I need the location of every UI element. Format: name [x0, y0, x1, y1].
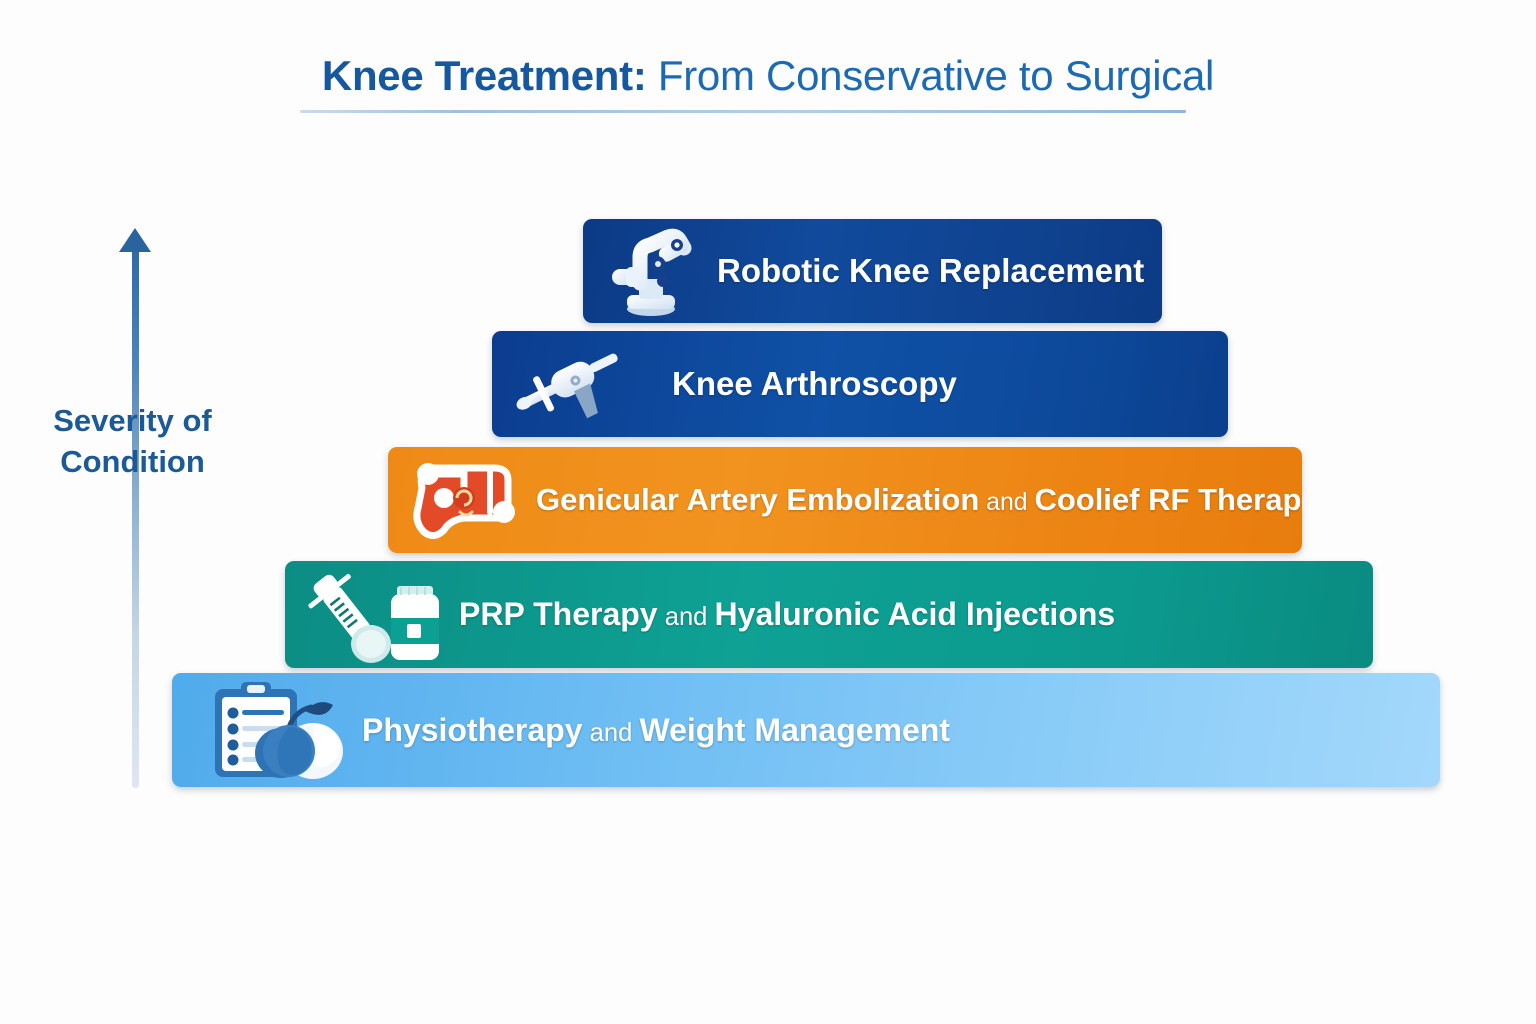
title-emphasis: Knee Treatment:	[322, 52, 647, 99]
tier-knee-arthroscopy[interactable]: Knee Arthroscopy	[492, 331, 1228, 437]
title-text: Knee Treatment: From Conservative to Sur…	[322, 52, 1214, 100]
tier-label-tail: Weight Management	[639, 712, 950, 748]
up-arrow-icon	[119, 228, 151, 252]
tier-label-main: Genicular Artery Embolization	[536, 482, 979, 517]
robotic-arm-icon	[603, 223, 699, 319]
tier-label-main: Robotic Knee Replacement	[717, 252, 1144, 289]
title-subtext: From Conservative to Surgical	[647, 52, 1215, 99]
tier-label-main: PRP Therapy	[459, 596, 658, 632]
severity-axis-label: Severity of Condition	[40, 400, 225, 482]
title-underline-divider	[300, 110, 1186, 113]
tier-label: Robotic Knee Replacement	[717, 252, 1144, 290]
tier-label-tail: Hyaluronic Acid Injections	[715, 596, 1116, 632]
tier-label-main: Knee Arthroscopy	[672, 365, 957, 402]
severity-axis-label-line1: Severity of	[40, 400, 225, 441]
tier-physiotherapy[interactable]: Physiotherapy and Weight Management	[172, 673, 1440, 787]
tier-prp-therapy[interactable]: PRP Therapy and Hyaluronic Acid Injectio…	[285, 561, 1373, 668]
severity-axis	[118, 228, 152, 788]
tier-label-tail: Coolief RF Therapy	[1034, 482, 1302, 517]
tier-label-conjunction: and	[658, 603, 715, 631]
syringe-vial-icon	[303, 564, 443, 666]
axis-shaft	[132, 244, 139, 788]
tier-label: Knee Arthroscopy	[672, 365, 957, 403]
arthroscope-icon	[508, 338, 624, 430]
clipboard-apple-icon	[198, 677, 348, 783]
tier-label-conjunction: and	[979, 489, 1034, 516]
severity-axis-label-line2: Condition	[40, 441, 225, 482]
infographic-canvas: Knee Treatment: From Conservative to Sur…	[0, 0, 1536, 1024]
tier-genicular-artery-embolization[interactable]: Genicular Artery Embolization and Coolie…	[388, 447, 1302, 553]
tier-label: Genicular Artery Embolization and Coolie…	[536, 482, 1302, 518]
page-title: Knee Treatment: From Conservative to Sur…	[0, 52, 1536, 100]
tier-label: Physiotherapy and Weight Management	[362, 712, 950, 749]
tier-robotic-knee-replacement[interactable]: Robotic Knee Replacement	[583, 219, 1162, 323]
tier-label-main: Physiotherapy	[362, 712, 583, 748]
tier-label-conjunction: and	[583, 719, 640, 747]
tier-label: PRP Therapy and Hyaluronic Acid Injectio…	[459, 596, 1115, 633]
knee-joint-artery-icon	[402, 454, 524, 546]
